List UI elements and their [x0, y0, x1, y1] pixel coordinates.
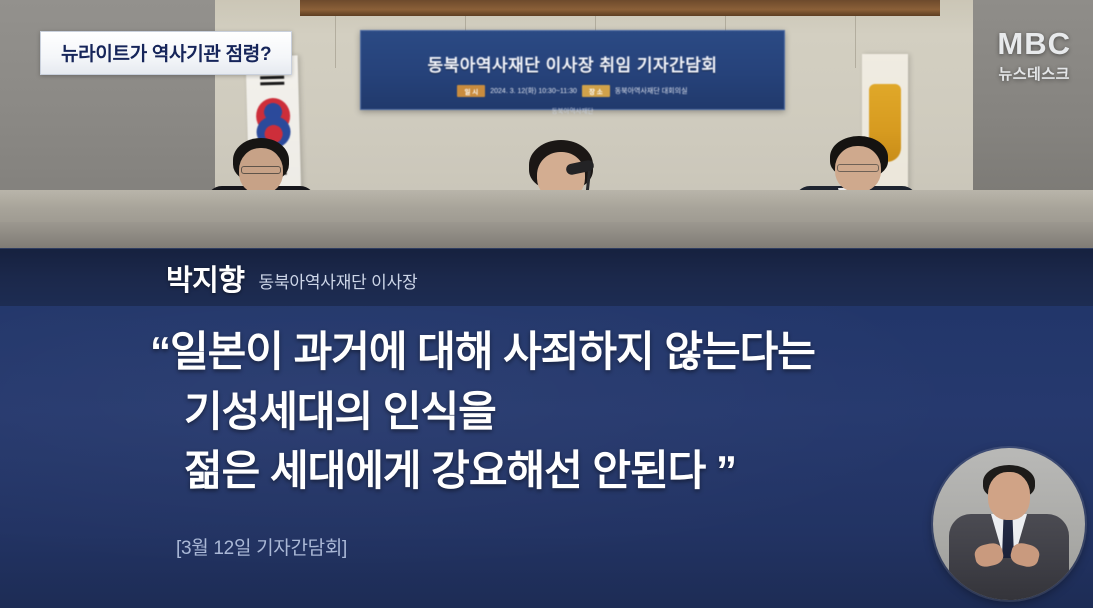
network-logo: MBC 뉴스데스크: [997, 28, 1071, 84]
quote-line-1: “일본이 과거에 대해 사죄하지 않는다는: [150, 322, 990, 382]
quote-source: [3월 12일 기자간담회]: [176, 533, 347, 560]
close-quote-mark: ”: [716, 447, 736, 494]
headline-banner: 뉴라이트가 역사기관 점령?: [40, 31, 292, 75]
banner-org-logo: 동북아역사재단: [361, 105, 784, 115]
quote-line-2: 기성세대의 인식을: [150, 382, 990, 442]
sign-language-interpreter: [933, 448, 1085, 600]
network-name: MBC: [997, 28, 1071, 59]
banner-date-label: 일 시: [457, 85, 485, 97]
program-name: 뉴스데스크: [997, 63, 1071, 84]
quote-panel: “일본이 과거에 대해 사죄하지 않는다는 기성세대의 인식을 젊은 세대에게 …: [0, 306, 1093, 608]
glasses-icon-right: [837, 164, 879, 172]
quote-line-3-text: 젊은 세대에게 강요해선 안된다: [184, 447, 705, 494]
conference-banner: 동북아역사재단 이사장 취임 기자간담회 일 시 2024. 3. 12(화) …: [360, 30, 785, 110]
quote-line-3: 젊은 세대에게 강요해선 안된다 ”: [150, 441, 990, 501]
banner-place-label: 장 소: [582, 85, 610, 97]
speaker-name: 박지향: [166, 257, 245, 299]
banner-date-value: 2024. 3. 12(화) 10:30~11:30: [490, 86, 577, 96]
conference-desk-front: [0, 222, 1093, 248]
headline-text: 뉴라이트가 역사기관 점령?: [61, 44, 271, 65]
glasses-icon: [241, 166, 281, 174]
speaker-title: 동북아역사재단 이사장: [259, 268, 418, 293]
lower-third-name-bar: 박지향 동북아역사재단 이사장: [0, 248, 1093, 306]
conference-banner-title: 동북아역사재단 이사장 취임 기자간담회: [361, 51, 784, 76]
broadcast-screen: 동북아역사재단 이사장 취임 기자간담회 일 시 2024. 3. 12(화) …: [0, 0, 1093, 608]
banner-place-value: 동북아역사재단 대회의실: [615, 86, 688, 96]
quote-text-block: “일본이 과거에 대해 사죄하지 않는다는 기성세대의 인식을 젊은 세대에게 …: [150, 322, 990, 501]
ceiling-beam: [300, 0, 940, 16]
video-footage: 동북아역사재단 이사장 취임 기자간담회 일 시 2024. 3. 12(화) …: [0, 0, 1093, 248]
conference-banner-details: 일 시 2024. 3. 12(화) 10:30~11:30 장 소 동북아역사…: [361, 85, 784, 97]
quote-line-1-text: 일본이 과거에 대해 사죄하지 않는다는: [170, 328, 815, 375]
quote-line-2-text: 기성세대의 인식을: [184, 388, 496, 435]
open-quote-mark: “: [150, 328, 170, 375]
